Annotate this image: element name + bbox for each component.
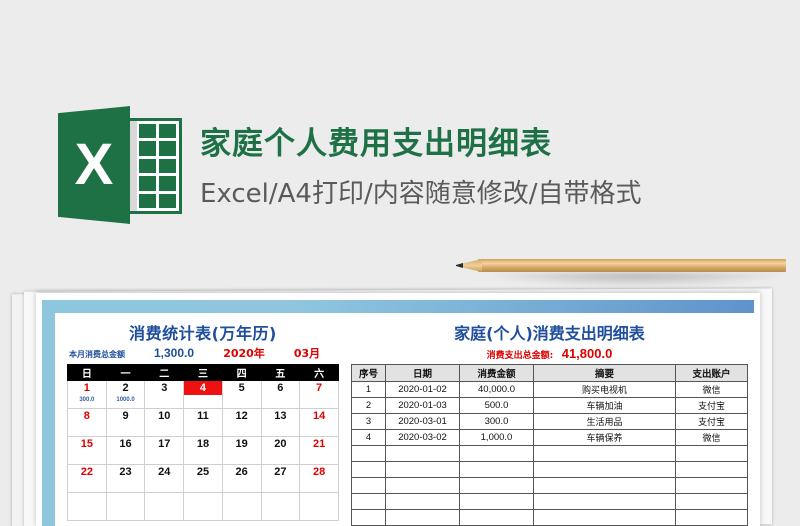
calendar-day-number (68, 493, 106, 507)
table-row[interactable]: 32020-03-01300.0生活用品支付宝 (352, 414, 748, 430)
calendar-day-number: 20 (262, 437, 300, 451)
detail-cell-date[interactable]: 2020-03-02 (386, 430, 460, 446)
pencil-icon (456, 256, 786, 278)
calendar-day-cell[interactable]: 22 (68, 465, 107, 493)
detail-cell-no[interactable] (352, 446, 386, 462)
calendar-day-amount (262, 423, 300, 434)
detail-cell-date[interactable]: 2020-01-02 (386, 382, 460, 398)
calendar-week-row: 15161718192021 (68, 437, 339, 465)
calendar-day-amount: 1000.0 (107, 395, 145, 406)
calendar-day-number (300, 493, 338, 507)
detail-total-label: 消费支出总金额: (487, 351, 554, 361)
pencil-lead (456, 263, 463, 268)
detail-cell-no[interactable]: 3 (352, 414, 386, 430)
calendar-title: 消费统计表(万年历) (67, 323, 339, 345)
detail-cell-memo[interactable] (534, 510, 676, 526)
pencil-shadow (486, 273, 786, 287)
calendar-day-cell[interactable] (184, 493, 223, 521)
detail-cell-amount[interactable]: 500.0 (460, 398, 534, 414)
calendar-day-amount (184, 451, 222, 462)
calendar-day-number: 14 (300, 409, 338, 423)
calendar-day-cell[interactable]: 19 (222, 437, 261, 465)
detail-cell-no[interactable]: 2 (352, 398, 386, 414)
calendar-day-amount (107, 479, 145, 490)
detail-cell-date[interactable] (386, 446, 460, 462)
calendar-day-cell[interactable]: 13 (261, 409, 300, 437)
calendar-day-amount (300, 451, 338, 462)
calendar-day-cell[interactable]: 12 (222, 409, 261, 437)
excel-sheet-grid (137, 121, 179, 211)
calendar-day-amount (145, 423, 183, 434)
calendar-day-number: 11 (184, 409, 222, 423)
calendar-day-cell[interactable] (300, 493, 339, 521)
calendar-weekday-header: 六 (300, 365, 339, 381)
calendar-day-amount: 300.0 (68, 395, 106, 406)
calendar-day-number: 15 (68, 437, 106, 451)
detail-title: 家庭(个人)消费支出明细表 (351, 323, 748, 345)
detail-cell-date[interactable] (386, 462, 460, 478)
detail-cell-amount[interactable]: 300.0 (460, 414, 534, 430)
calendar-day-number (145, 493, 183, 507)
calendar-day-cell[interactable]: 20 (261, 437, 300, 465)
calendar-day-cell[interactable]: 25 (184, 465, 223, 493)
calendar-day-amount (223, 395, 261, 406)
calendar-day-amount (262, 451, 300, 462)
detail-cell-date[interactable]: 2020-01-03 (386, 398, 460, 414)
excel-logo-letter: X (58, 106, 130, 224)
calendar-day-number: 9 (107, 409, 145, 423)
detail-cell-amount[interactable] (460, 494, 534, 510)
detail-cell-no[interactable] (352, 478, 386, 494)
detail-column-header: 序号 (352, 365, 386, 382)
calendar-day-amount (262, 479, 300, 490)
calendar-day-amount (68, 423, 106, 434)
table-row[interactable] (352, 462, 748, 478)
calendar-day-number: 27 (262, 465, 300, 479)
calendar-day-amount (107, 423, 145, 434)
calendar-day-amount (145, 395, 183, 406)
calendar-day-cell[interactable] (261, 493, 300, 521)
paper-sheet-front: 消费统计表(万年历) 本月消费总金额 1,300.0 2020年 03月 日一二… (36, 293, 760, 526)
calendar-weekday-header: 五 (261, 365, 300, 381)
calendar-day-amount (107, 451, 145, 462)
pencil-tip (460, 259, 482, 272)
month-total-value[interactable]: 1,300.0 (137, 346, 211, 360)
calendar-weekday-header: 日 (68, 365, 107, 381)
calendar-day-number: 19 (223, 437, 261, 451)
calendar-day-amount (145, 451, 183, 462)
calendar-weekday-header: 二 (145, 365, 184, 381)
consumption-calendar-block: 消费统计表(万年历) 本月消费总金额 1,300.0 2020年 03月 日一二… (67, 323, 339, 521)
detail-cell-account[interactable] (676, 494, 748, 510)
calendar-day-amount (68, 507, 106, 518)
calendar-day-cell[interactable]: 15 (68, 437, 107, 465)
calendar-day-number: 21 (300, 437, 338, 451)
detail-cell-date[interactable] (386, 494, 460, 510)
calendar-day-cell[interactable] (222, 493, 261, 521)
calendar-day-cell[interactable]: 16 (106, 437, 145, 465)
excel-logo-icon: X (58, 104, 182, 226)
pencil-body (478, 259, 786, 272)
calendar-meta-row: 本月消费总金额 1,300.0 2020年 03月 (67, 345, 339, 362)
calendar-day-cell[interactable]: 3 (145, 381, 184, 409)
calendar-day-cell[interactable]: 11 (184, 409, 223, 437)
calendar-day-number: 6 (262, 381, 300, 395)
calendar-day-cell[interactable]: 21 (300, 437, 339, 465)
calendar-day-number: 17 (145, 437, 183, 451)
detail-cell-memo[interactable]: 生活用品 (534, 414, 676, 430)
detail-cell-amount[interactable] (460, 446, 534, 462)
calendar-day-amount (107, 507, 145, 518)
calendar-day-cell[interactable]: 17 (145, 437, 184, 465)
detail-cell-date[interactable]: 2020-03-01 (386, 414, 460, 430)
calendar-day-cell[interactable]: 28 (300, 465, 339, 493)
calendar-day-amount (262, 395, 300, 406)
calendar-day-amount (184, 479, 222, 490)
expense-detail-table: 序号日期消费金额摘要支出账户 12020-01-0240,000.0购买电视机微… (351, 364, 748, 526)
calendar-day-number (184, 493, 222, 507)
detail-total-value[interactable]: 41,800.0 (562, 346, 613, 361)
calendar-day-cell[interactable] (68, 493, 107, 521)
calendar-day-cell[interactable]: 18 (184, 437, 223, 465)
table-row[interactable]: 22020-01-03500.0车辆加油支付宝 (352, 398, 748, 414)
calendar-week-row: 1300.021000.034567 (68, 381, 339, 409)
calendar-day-amount (300, 479, 338, 490)
detail-cell-amount[interactable]: 40,000.0 (460, 382, 534, 398)
calendar-day-number: 25 (184, 465, 222, 479)
table-row[interactable] (352, 446, 748, 462)
detail-column-header: 消费金额 (460, 365, 534, 382)
detail-cell-no[interactable]: 1 (352, 382, 386, 398)
detail-cell-no[interactable]: 4 (352, 430, 386, 446)
calendar-day-cell[interactable]: 24 (145, 465, 184, 493)
calendar-header-row: 日一二三四五六 (68, 365, 339, 381)
calendar-weekday-header: 三 (184, 365, 223, 381)
table-row[interactable]: 42020-03-021,000.0车辆保养微信 (352, 430, 748, 446)
calendar-day-cell[interactable]: 7 (300, 381, 339, 409)
page-subtitle: Excel/A4打印/内容随意修改/自带格式 (200, 173, 641, 210)
calendar-day-number: 2 (107, 381, 145, 395)
table-row[interactable] (352, 510, 748, 526)
calendar-month[interactable]: 03月 (277, 345, 337, 361)
detail-column-header: 日期 (386, 365, 460, 382)
calendar-day-number: 12 (223, 409, 261, 423)
detail-cell-account[interactable]: 支付宝 (676, 414, 748, 430)
detail-cell-account[interactable] (676, 462, 748, 478)
detail-cell-amount[interactable] (460, 510, 534, 526)
calendar-day-number: 24 (145, 465, 183, 479)
calendar-day-number (223, 493, 261, 507)
calendar-day-amount (184, 423, 222, 434)
page-title: 家庭个人费用支出明细表 (200, 118, 552, 163)
detail-column-header: 摘要 (534, 365, 676, 382)
detail-cell-memo[interactable]: 车辆保养 (534, 430, 676, 446)
detail-header-row: 序号日期消费金额摘要支出账户 (352, 365, 748, 382)
calendar-weekday-header: 一 (106, 365, 145, 381)
calendar-day-number: 5 (223, 381, 261, 395)
calendar-weekday-header: 四 (222, 365, 261, 381)
expense-detail-block: 家庭(个人)消费支出明细表 消费支出总金额: 41,800.0 序号日期消费金额… (351, 323, 748, 526)
calendar-day-number: 28 (300, 465, 338, 479)
detail-cell-memo[interactable]: 车辆加油 (534, 398, 676, 414)
detail-total-row: 消费支出总金额: 41,800.0 (351, 345, 748, 362)
calendar-week-row: 22232425262728 (68, 465, 339, 493)
calendar-day-number: 16 (107, 437, 145, 451)
calendar-day-number (262, 493, 300, 507)
detail-cell-account[interactable] (676, 478, 748, 494)
calendar-day-number: 3 (145, 381, 183, 395)
detail-cell-memo[interactable] (534, 494, 676, 510)
calendar-table: 日一二三四五六 1300.021000.03456789101112131415… (67, 364, 339, 521)
detail-cell-date[interactable] (386, 510, 460, 526)
calendar-day-number (107, 493, 145, 507)
calendar-day-amount (300, 507, 338, 518)
month-total-label: 本月消费总金额 (69, 349, 137, 360)
detail-cell-memo[interactable] (534, 446, 676, 462)
detail-cell-amount[interactable] (460, 462, 534, 478)
calendar-day-cell[interactable] (106, 493, 145, 521)
calendar-year[interactable]: 2020年 (211, 345, 277, 361)
calendar-week-row: 891011121314 (68, 409, 339, 437)
calendar-day-cell[interactable]: 27 (261, 465, 300, 493)
calendar-day-amount (145, 479, 183, 490)
calendar-day-cell[interactable]: 26 (222, 465, 261, 493)
detail-cell-no[interactable] (352, 494, 386, 510)
calendar-day-number: 10 (145, 409, 183, 423)
calendar-day-amount (223, 479, 261, 490)
table-row[interactable]: 12020-01-0240,000.0购买电视机微信 (352, 382, 748, 398)
calendar-day-cell[interactable] (145, 493, 184, 521)
screenshot-root: X 家庭个人费用支出明细表 Excel/A4打印/内容随意修改/自带格式 消费统… (0, 0, 800, 526)
calendar-day-cell[interactable]: 5 (222, 381, 261, 409)
calendar-day-cell[interactable]: 23 (106, 465, 145, 493)
detail-cell-memo[interactable]: 购买电视机 (534, 382, 676, 398)
calendar-day-number: 18 (184, 437, 222, 451)
detail-cell-amount[interactable]: 1,000.0 (460, 430, 534, 446)
calendar-day-amount (184, 395, 222, 406)
worksheet-canvas: 消费统计表(万年历) 本月消费总金额 1,300.0 2020年 03月 日一二… (55, 313, 754, 526)
calendar-day-cell[interactable]: 4 (184, 381, 223, 409)
calendar-day-cell[interactable]: 21000.0 (106, 381, 145, 409)
calendar-day-amount (145, 507, 183, 518)
detail-cell-account[interactable] (676, 446, 748, 462)
calendar-day-cell[interactable]: 1300.0 (68, 381, 107, 409)
calendar-day-cell[interactable]: 14 (300, 409, 339, 437)
calendar-day-amount (262, 507, 300, 518)
detail-cell-account[interactable]: 微信 (676, 382, 748, 398)
calendar-day-number: 13 (262, 409, 300, 423)
detail-cell-date[interactable] (386, 478, 460, 494)
detail-cell-account[interactable] (676, 510, 748, 526)
calendar-day-number: 1 (68, 381, 106, 395)
calendar-day-amount (300, 395, 338, 406)
calendar-day-number: 7 (300, 381, 338, 395)
table-row[interactable] (352, 494, 748, 510)
calendar-day-cell[interactable]: 6 (261, 381, 300, 409)
calendar-week-row (68, 493, 339, 521)
calendar-day-amount (300, 423, 338, 434)
calendar-day-number: 22 (68, 465, 106, 479)
calendar-day-number: 23 (107, 465, 145, 479)
calendar-day-cell[interactable]: 8 (68, 409, 107, 437)
calendar-day-amount (223, 423, 261, 434)
detail-cell-no[interactable] (352, 462, 386, 478)
promo-banner: X 家庭个人费用支出明细表 Excel/A4打印/内容随意修改/自带格式 (0, 46, 800, 196)
detail-cell-account[interactable]: 支付宝 (676, 398, 748, 414)
calendar-day-number: 8 (68, 409, 106, 423)
calendar-day-amount (223, 507, 261, 518)
detail-cell-memo[interactable] (534, 462, 676, 478)
detail-cell-amount[interactable] (460, 478, 534, 494)
calendar-day-cell[interactable]: 9 (106, 409, 145, 437)
calendar-day-cell[interactable]: 10 (145, 409, 184, 437)
detail-cell-no[interactable] (352, 510, 386, 526)
detail-cell-account[interactable]: 微信 (676, 430, 748, 446)
detail-cell-memo[interactable] (534, 478, 676, 494)
calendar-day-amount (68, 451, 106, 462)
table-row[interactable] (352, 478, 748, 494)
calendar-day-amount (223, 451, 261, 462)
detail-column-header: 支出账户 (676, 365, 748, 382)
calendar-day-number: 26 (223, 465, 261, 479)
calendar-day-amount (184, 507, 222, 518)
calendar-day-number: 4 (184, 381, 222, 395)
calendar-day-amount (68, 479, 106, 490)
